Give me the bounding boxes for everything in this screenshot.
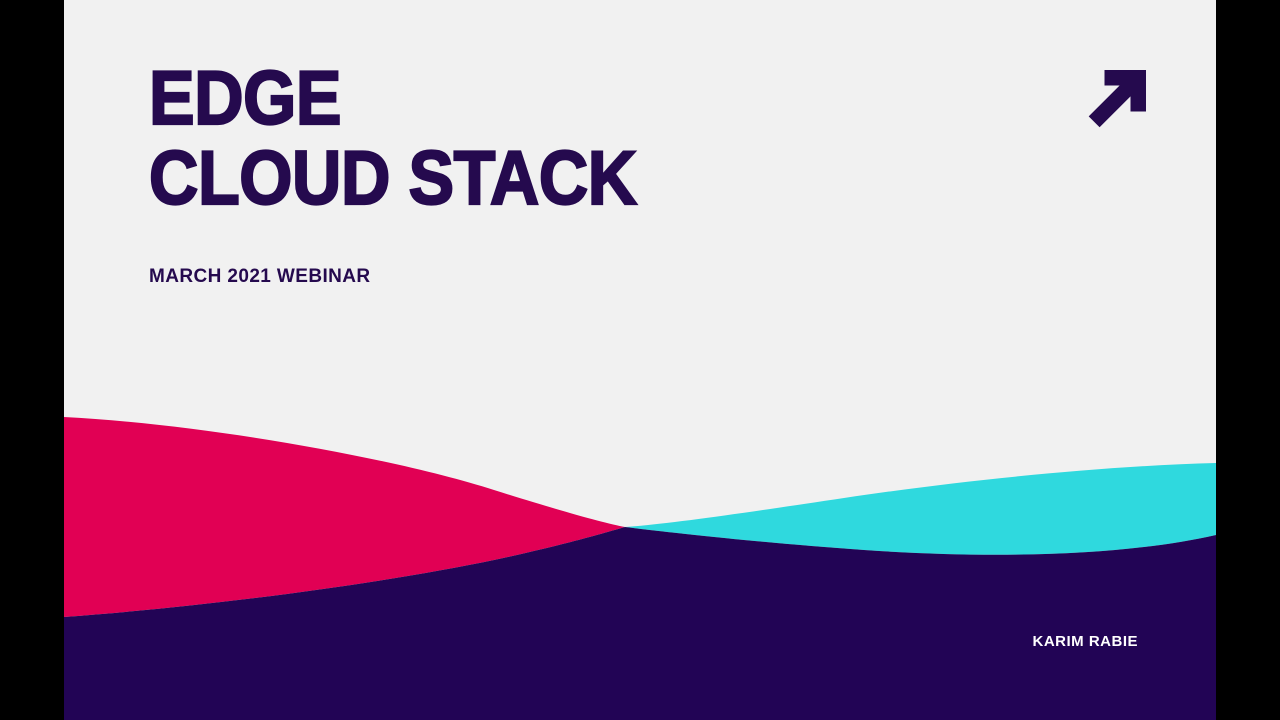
page-title-line-2: CLOUD STACK xyxy=(149,142,959,216)
letterbox-bar-right xyxy=(1216,0,1280,720)
presenter-name: KARIM RABIE xyxy=(1033,633,1139,650)
video-frame: EDGE CLOUD STACK MARCH 2021 WEBINAR KARI… xyxy=(0,0,1280,720)
page-title-line-1: EDGE xyxy=(149,62,959,136)
presentation-slide: EDGE CLOUD STACK MARCH 2021 WEBINAR KARI… xyxy=(64,0,1216,720)
diagonal-arrow-up-right-icon xyxy=(1084,66,1150,132)
letterbox-bar-left xyxy=(0,0,64,720)
subtitle: MARCH 2021 WEBINAR xyxy=(149,266,371,288)
title-block: EDGE CLOUD STACK xyxy=(149,62,1049,215)
